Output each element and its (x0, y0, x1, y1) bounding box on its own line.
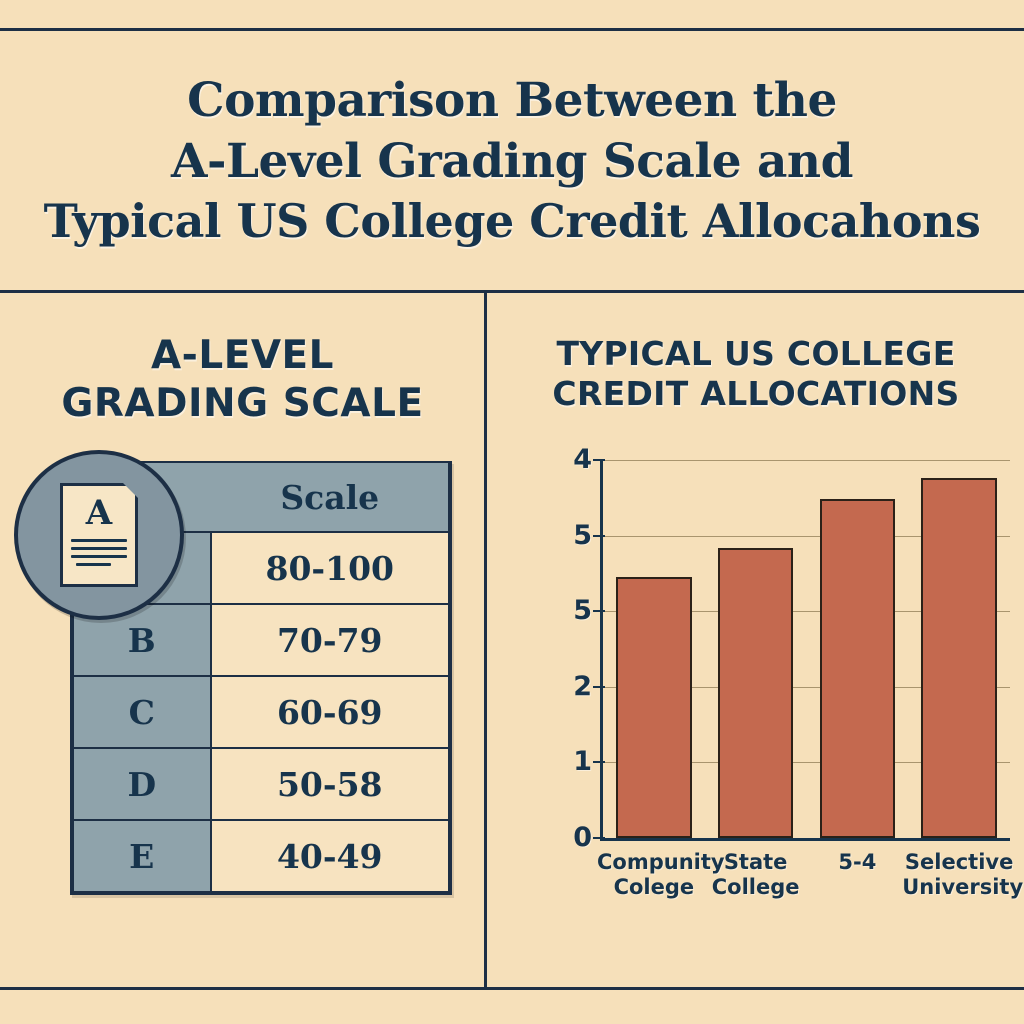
y-tick-label: 5 (573, 595, 592, 626)
y-tick-label: 5 (573, 519, 592, 550)
y-tick-label: 4 (573, 444, 592, 475)
y-tick-label: 2 (573, 671, 592, 702)
x-tick-label: StateCollege (699, 850, 813, 900)
y-tick-label: 1 (573, 746, 592, 777)
y-tick (593, 761, 605, 763)
x-label-line: Colege (597, 875, 711, 900)
poster-title: Comparison Between the A-Level Grading S… (0, 32, 1024, 290)
document-grade-icon: A (14, 450, 184, 620)
x-axis (600, 838, 1010, 841)
y-tick (593, 686, 605, 688)
x-label-line: State (699, 850, 813, 875)
cell-grade: E (73, 820, 211, 892)
document-shape: A (60, 483, 138, 587)
infographic-poster: Comparison Between the A-Level Grading S… (0, 0, 1024, 1024)
table-row: B 70-79 (73, 604, 449, 676)
y-tick (593, 535, 605, 537)
cell-grade: D (73, 748, 211, 820)
y-axis (600, 460, 603, 840)
header-scale: Scale (211, 463, 450, 532)
x-label-line: Compunity (597, 850, 711, 875)
x-tick-label: SelectiveUniversity (902, 850, 1016, 900)
x-label-line: University (902, 875, 1016, 900)
bar (718, 548, 793, 838)
left-panel-heading: A-LEVEL GRADING SCALE (0, 332, 485, 427)
title-line-2: A-Level Grading Scale and (171, 131, 853, 192)
table-row: D 50-58 (73, 748, 449, 820)
table-row: C 60-69 (73, 676, 449, 748)
left-heading-line-2: GRADING SCALE (0, 380, 485, 428)
right-panel-heading: TYPICAL US COLLEGE CREDIT ALLOCATIONS (488, 334, 1024, 415)
cell-scale: 50-58 (211, 748, 450, 820)
x-label-line: 5-4 (801, 850, 915, 875)
bar (820, 499, 895, 838)
right-heading-line-2: CREDIT ALLOCATIONS (488, 374, 1024, 414)
document-text-lines (71, 539, 127, 571)
credit-allocations-bar-chart: 455210 CompunityColegeStateCollege5-4Sel… (555, 455, 1010, 845)
cell-grade: C (73, 676, 211, 748)
table-row: E 40-49 (73, 820, 449, 892)
document-fold-corner (123, 483, 138, 498)
x-label-line: College (699, 875, 813, 900)
x-label-line: Selective (902, 850, 1016, 875)
y-tick (593, 610, 605, 612)
cell-scale: 60-69 (211, 676, 450, 748)
title-line-1: Comparison Between the (187, 70, 837, 131)
cell-scale: 80-100 (211, 532, 450, 604)
bar (921, 478, 996, 838)
top-divider (0, 28, 1024, 31)
right-heading-line-1: TYPICAL US COLLEGE (488, 334, 1024, 374)
x-tick-label: CompunityColege (597, 850, 711, 900)
y-tick (593, 459, 605, 461)
x-tick-label: 5-4 (801, 850, 915, 875)
grade-letter: A (86, 496, 112, 530)
bar (616, 577, 691, 838)
cell-scale: 70-79 (211, 604, 450, 676)
y-tick (593, 837, 605, 839)
cell-scale: 40-49 (211, 820, 450, 892)
y-tick-label: 0 (573, 822, 592, 853)
left-heading-line-1: A-LEVEL (0, 332, 485, 380)
title-line-3: Typical US College Credit Allocahons (44, 192, 981, 252)
gridline (603, 460, 1010, 461)
